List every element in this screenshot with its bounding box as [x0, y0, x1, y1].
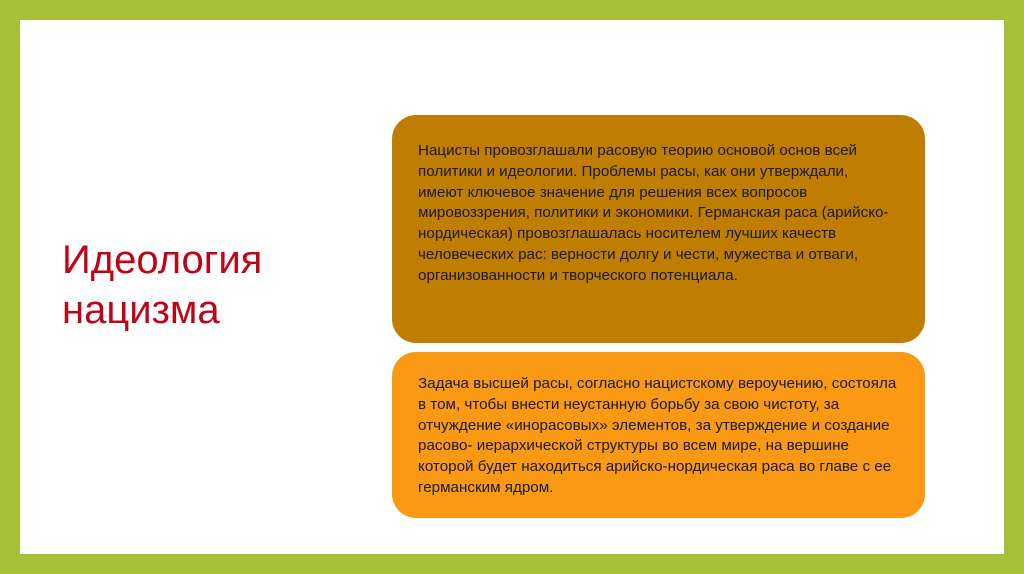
content-card-secondary-text: Задача высшей расы, согласно нацистскому… [418, 374, 897, 499]
slide-frame: Идеология нацизма Нацисты провозглашали … [0, 0, 1024, 574]
page-title-line-2: нацизма [62, 285, 362, 335]
content-card-primary-text: Нацисты провозглашали расовую теорию осн… [418, 141, 897, 287]
page-title: Идеология нацизма [62, 235, 362, 335]
content-card-primary: Нацисты провозглашали расовую теорию осн… [392, 115, 925, 343]
content-card-secondary: Задача высшей расы, согласно нацистскому… [392, 352, 925, 518]
page-title-line-1: Идеология [62, 235, 362, 285]
slide-canvas: Идеология нацизма Нацисты провозглашали … [20, 20, 1004, 554]
